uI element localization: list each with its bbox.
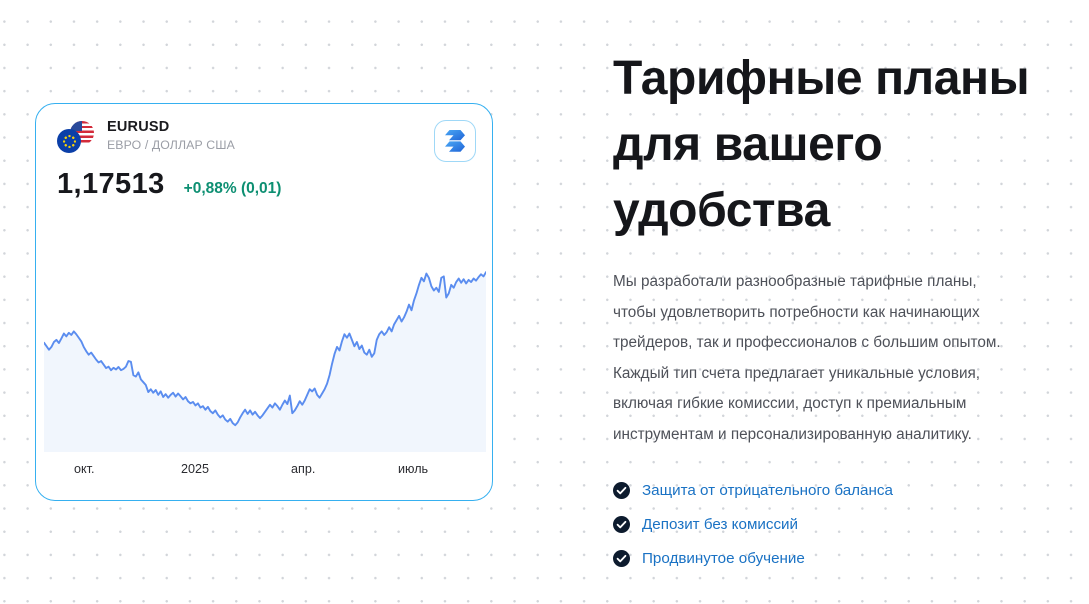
check-circle-icon: [613, 550, 630, 567]
ticker-block: EURUSD ЕВРО / ДОЛЛАР США: [107, 118, 235, 154]
feature-label: Продвинутое обучение: [642, 550, 805, 567]
ticker-symbol: EURUSD: [107, 118, 235, 136]
axis-tick-2: апр.: [291, 462, 315, 476]
feature-label: Защита от отрицательного баланса: [642, 482, 893, 499]
check-circle-icon: [613, 482, 630, 499]
currency-pair-flags: [57, 121, 95, 155]
ticker-description: ЕВРО / ДОЛЛАР США: [107, 137, 235, 154]
price-row: 1,17513 +0,88% (0,01): [57, 168, 281, 201]
quote-card-header: EURUSD ЕВРО / ДОЛЛАР США: [57, 118, 476, 164]
price-area-chart[interactable]: [44, 220, 486, 452]
price-change: +0,88% (0,01): [184, 180, 282, 198]
check-circle-icon: [613, 516, 630, 533]
price-value: 1,17513: [57, 168, 165, 201]
axis-tick-1: 2025: [181, 462, 209, 476]
brand-logo-badge[interactable]: [434, 120, 476, 162]
list-item: Продвинутое обучение: [613, 541, 1083, 575]
hero-paragraph: Мы разработали разнообразные тарифные пл…: [613, 267, 1013, 450]
feature-label: Депозит без комиссий: [642, 516, 798, 533]
hero-copy: Тарифные планы для вашего удобства Мы ра…: [613, 46, 1083, 575]
axis-tick-3: июль: [398, 462, 428, 476]
list-item: Защита от отрицательного баланса: [613, 473, 1083, 507]
list-item: Депозит без комиссий: [613, 507, 1083, 541]
feature-list: Защита от отрицательного баланса Депозит…: [613, 473, 1083, 575]
axis-tick-0: окт.: [74, 462, 95, 476]
quote-card[interactable]: EURUSD ЕВРО / ДОЛЛАР США 1,17513 +0,88% …: [35, 103, 493, 501]
chart-area-fill: [44, 272, 486, 452]
eu-flag-icon: [57, 129, 81, 153]
page-title: Тарифные планы для вашего удобства: [613, 46, 1083, 244]
chart-x-axis: окт. 2025 апр. июль: [36, 462, 492, 486]
brand-logo-icon: [444, 129, 466, 153]
